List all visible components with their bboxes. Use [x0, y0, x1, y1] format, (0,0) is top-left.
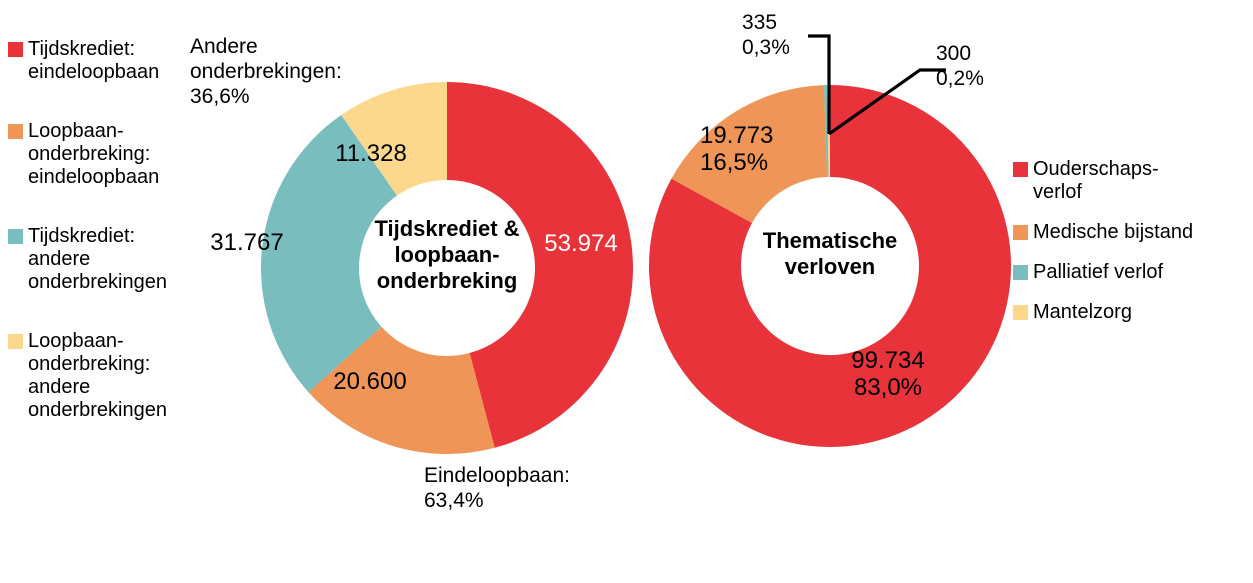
chart-canvas: Tijdskrediet: eindeloopbaan Loopbaan- on… — [0, 0, 1253, 583]
left-donut-center-title: Tijdskrediet & loopbaan- onderbreking — [347, 216, 547, 294]
slice-label-left-cream: 11.328 — [306, 140, 436, 167]
legend-swatch-red — [1013, 162, 1028, 177]
legend-item-medische-bijstand[interactable]: Medische bijstand — [1013, 221, 1253, 244]
legend-label-tijdskrediet-eindeloopbaan: Tijdskrediet: eindeloopbaan — [28, 38, 159, 84]
slice-label-right-teal: 335 0,3% — [742, 10, 832, 60]
legend-item-tijdskrediet-andere[interactable]: Tijdskrediet: andere onderbrekingen — [8, 225, 208, 294]
slice-label-left-orange: 20.600 — [305, 368, 435, 395]
legend-label-medische-bijstand: Medische bijstand — [1033, 221, 1193, 244]
legend-item-palliatief-verlof[interactable]: Palliatief verlof — [1013, 261, 1253, 284]
legend-swatch-teal — [1013, 265, 1028, 280]
slice-label-right-orange: 19.773 16,5% — [700, 122, 840, 176]
legend-item-loopbaanonderbreking-eindeloopbaan[interactable]: Loopbaan- onderbreking: eindeloopbaan — [8, 120, 208, 189]
legend-swatch-red — [8, 42, 23, 57]
legend-swatch-orange — [8, 124, 23, 139]
legend-label-tijdskrediet-andere: Tijdskrediet: andere onderbrekingen — [28, 225, 167, 294]
legend-right: Ouderschaps- verlof Medische bijstand Pa… — [1013, 158, 1253, 341]
legend-label-ouderschapsverlof: Ouderschaps- verlof — [1033, 158, 1159, 204]
legend-swatch-orange — [1013, 225, 1028, 240]
legend-swatch-teal — [8, 229, 23, 244]
slice-label-left-teal: 31.767 — [182, 229, 312, 256]
annotation-andere-onderbrekingen: Andere onderbrekingen: 36,6% — [190, 34, 365, 109]
legend-item-mantelzorg[interactable]: Mantelzorg — [1013, 301, 1253, 324]
legend-item-tijdskrediet-eindeloopbaan[interactable]: Tijdskrediet: eindeloopbaan — [8, 38, 208, 84]
legend-label-loopbaanonderbreking-andere: Loopbaan- onderbreking: andere onderbrek… — [28, 330, 167, 422]
slice-label-right-cream: 300 0,2% — [936, 41, 1026, 91]
legend-item-ouderschapsverlof[interactable]: Ouderschaps- verlof — [1013, 158, 1253, 204]
legend-item-loopbaanonderbreking-andere[interactable]: Loopbaan- onderbreking: andere onderbrek… — [8, 330, 208, 422]
legend-left: Tijdskrediet: eindeloopbaan Loopbaan- on… — [8, 38, 208, 458]
slice-label-right-red: 99.734 83,0% — [818, 347, 958, 401]
right-donut-center-title: Thematische verloven — [730, 228, 930, 280]
annotation-eindeloopbaan: Eindeloopbaan: 63,4% — [424, 463, 654, 513]
callout-line-mantelzorg — [829, 70, 946, 134]
legend-swatch-cream — [1013, 305, 1028, 320]
legend-label-palliatief-verlof: Palliatief verlof — [1033, 261, 1163, 284]
legend-label-mantelzorg: Mantelzorg — [1033, 301, 1132, 324]
legend-label-loopbaanonderbreking-eindeloopbaan: Loopbaan- onderbreking: eindeloopbaan — [28, 120, 159, 189]
legend-swatch-cream — [8, 334, 23, 349]
